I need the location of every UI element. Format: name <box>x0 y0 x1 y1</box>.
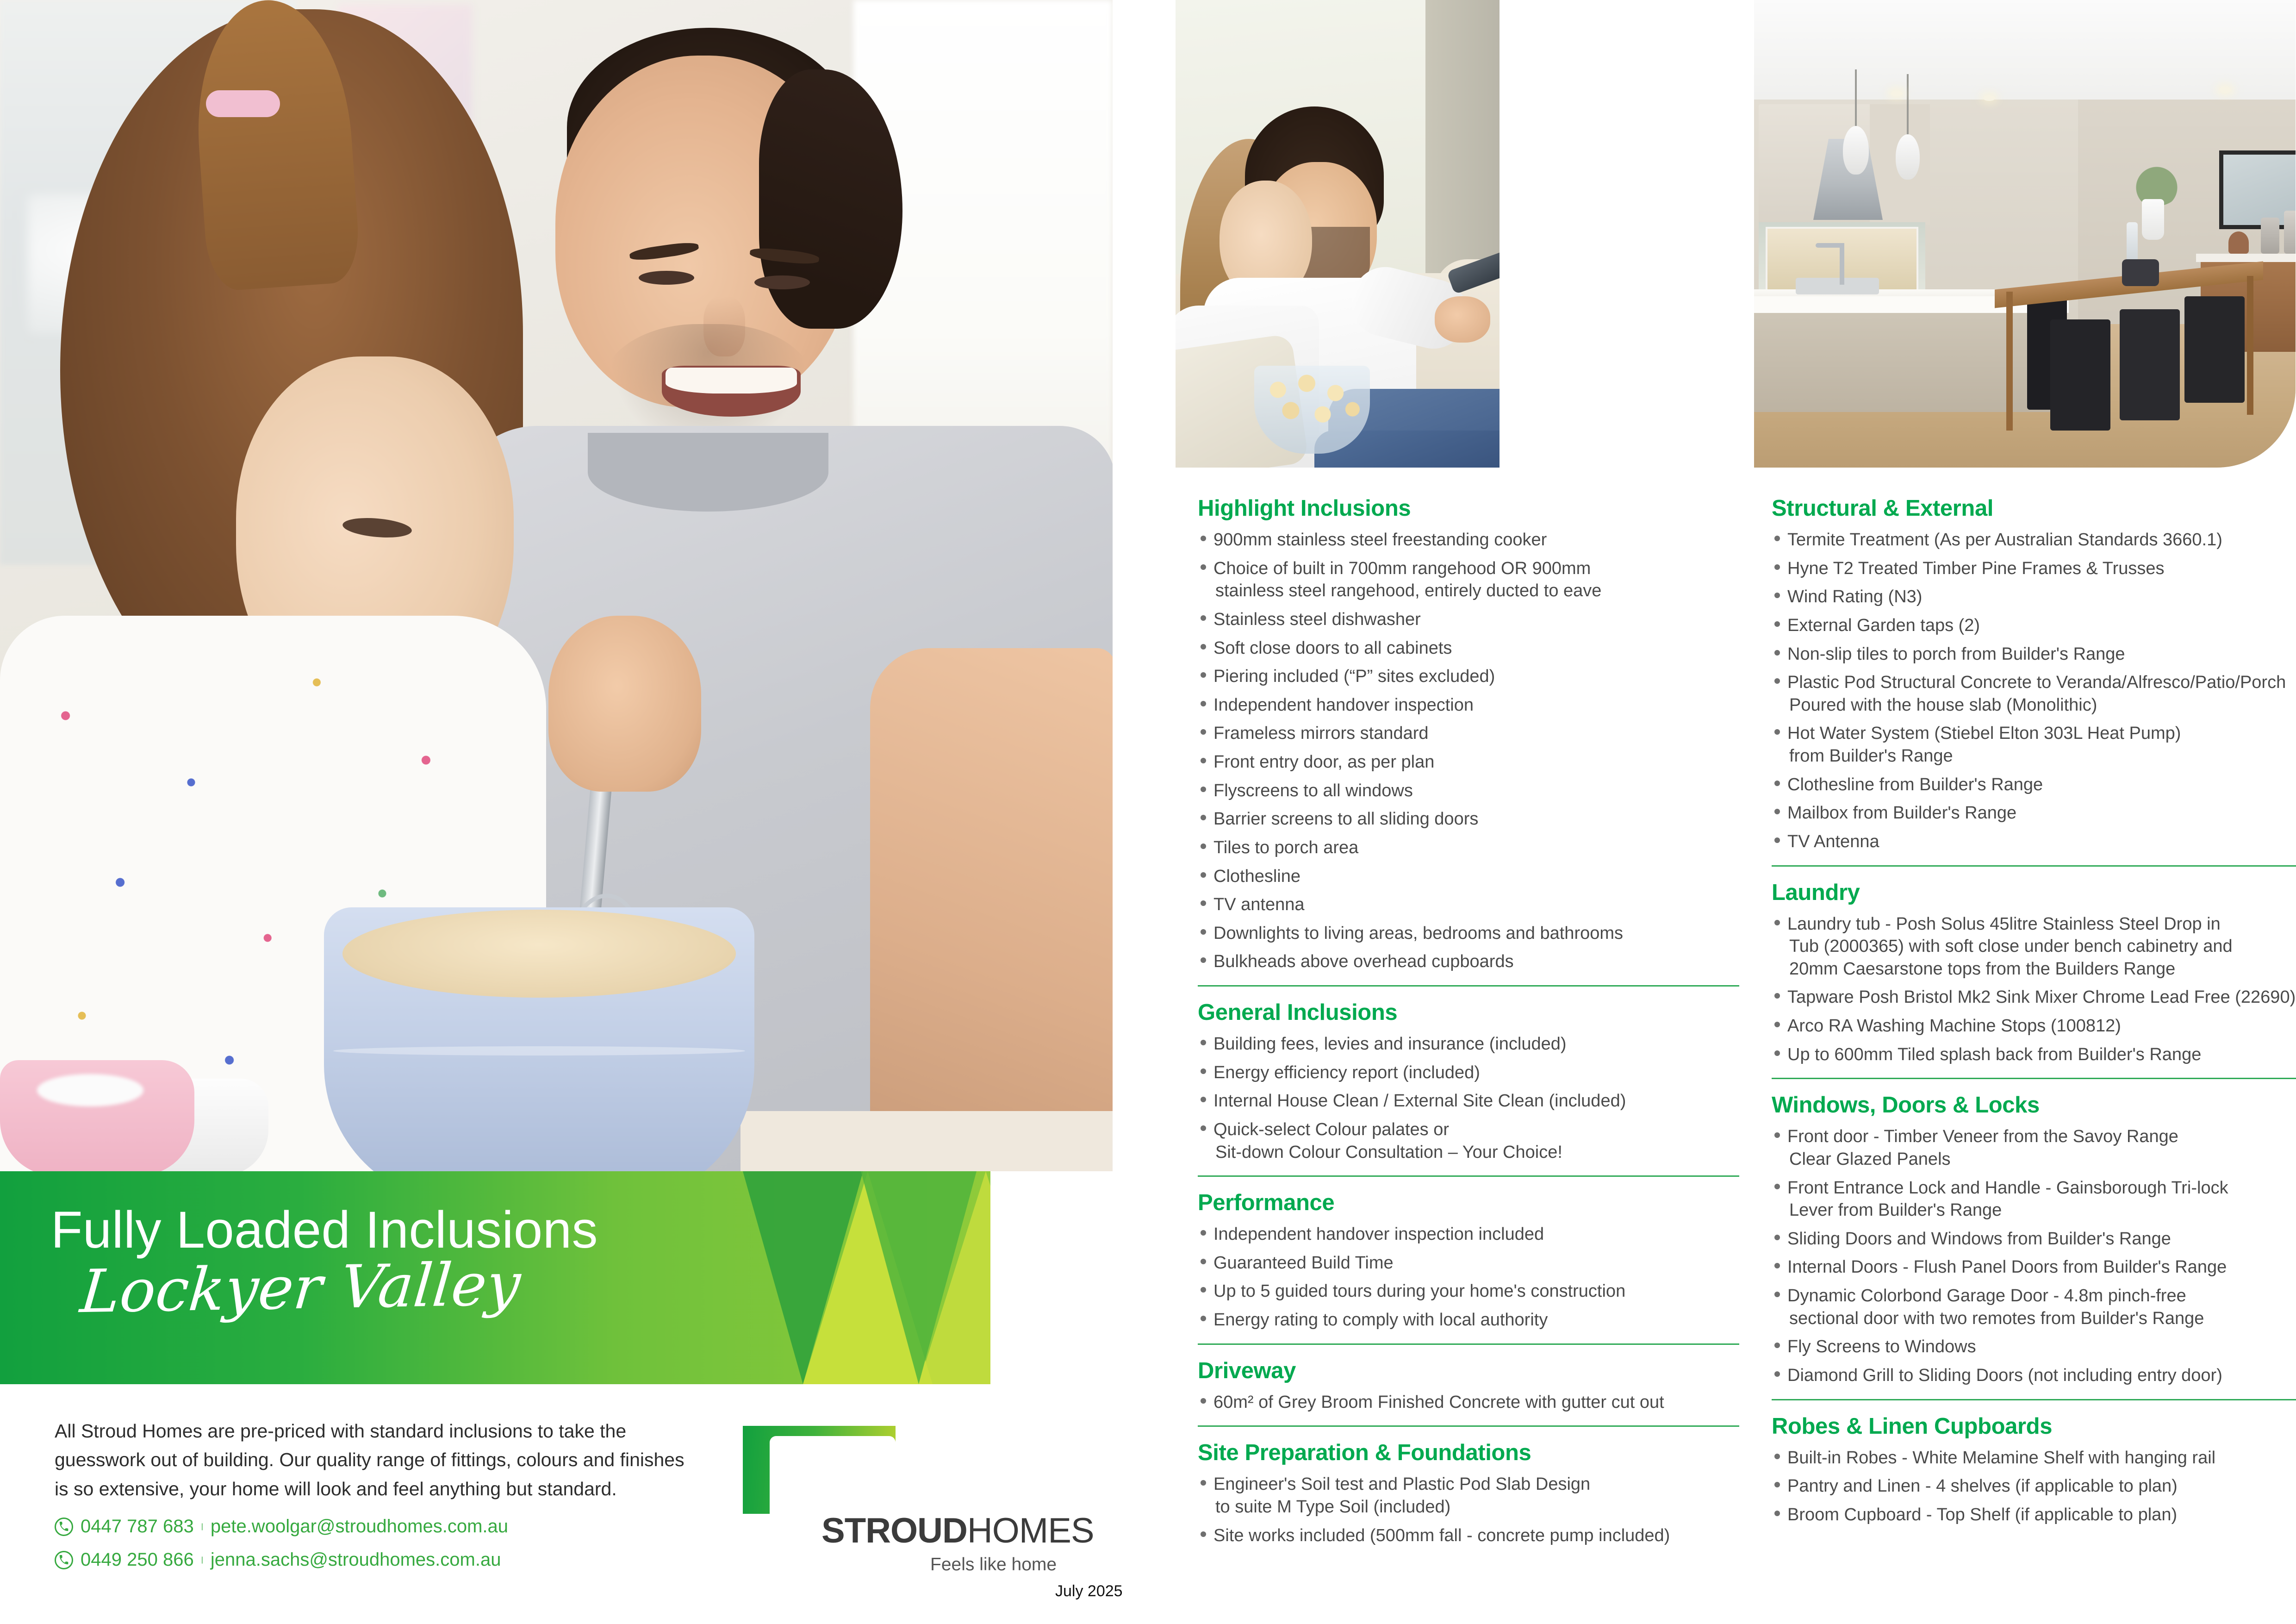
list-item: Barrier screens to all sliding doors <box>1198 808 1739 831</box>
man-mouth <box>662 366 801 417</box>
list-item: Soft close doors to all cabinets <box>1198 637 1739 660</box>
list-item: Flyscreens to all windows <box>1198 780 1739 802</box>
section-heading: Windows, Doors & Locks <box>1772 1092 2296 1118</box>
section-middle_column-4: Site Preparation & FoundationsEngineer's… <box>1198 1440 1739 1547</box>
dining-chair-1 <box>2050 319 2110 431</box>
pendant-light-2 <box>1896 134 1920 180</box>
list-item: TV antenna <box>1198 893 1739 916</box>
logo-tagline: Feels like home <box>930 1555 1057 1575</box>
inclusions-column-right: Structural & ExternalTermite Treatment (… <box>1772 495 2296 1532</box>
list-item: Front door - Timber Veneer from the Savo… <box>1772 1125 2296 1170</box>
list-item: Energy rating to comply with local autho… <box>1198 1309 1739 1331</box>
mixing-bowl-ridge <box>333 1046 745 1056</box>
photo-kitchen-dining <box>1754 0 2296 468</box>
man-teeth <box>666 368 797 394</box>
photo-couple-watching-tv <box>1176 0 1500 468</box>
man-eye-left <box>639 271 694 285</box>
kitchen-sink <box>1796 278 1879 294</box>
intro-paragraph: All Stroud Homes are pre-priced with sta… <box>55 1417 703 1503</box>
logo-word-light: HOMES <box>967 1511 1094 1550</box>
section-heading: Performance <box>1198 1190 1739 1216</box>
dining-table-leg-right <box>2247 276 2253 415</box>
list-item: Pantry and Linen - 4 shelves (if applica… <box>1772 1475 2296 1498</box>
downlight-3 <box>2219 87 2231 93</box>
list-item: TV Antenna <box>1772 831 2296 853</box>
list-item: Plastic Pod Structural Concrete to Veran… <box>1772 671 2296 716</box>
section-divider <box>1772 1399 2296 1400</box>
hero-photo-family-baking <box>0 0 1113 1171</box>
pendant-cord-2 <box>1907 74 1909 139</box>
list-item: Hot Water System (Stiebel Elton 303L Hea… <box>1772 722 2296 767</box>
section-heading: General Inclusions <box>1198 999 1739 1025</box>
list-item-continuation: stainless steel rangehood, entirely duct… <box>1213 580 1739 602</box>
list-item-continuation: from Builder's Range <box>1787 745 2296 768</box>
section-right_column-0: Structural & ExternalTermite Treatment (… <box>1772 495 2296 853</box>
section-bullet-list: 60m² of Grey Broom Finished Concrete wit… <box>1198 1391 1739 1414</box>
section-heading: Driveway <box>1198 1358 1739 1384</box>
section-heading: Robes & Linen Cupboards <box>1772 1413 2296 1439</box>
banner-triangle-4 <box>919 1171 990 1384</box>
mixing-bowl-batter <box>342 910 736 998</box>
list-item: Termite Treatment (As per Australian Sta… <box>1772 529 2296 551</box>
dining-chair-2 <box>2120 309 2180 420</box>
list-item: 60m² of Grey Broom Finished Concrete wit… <box>1198 1391 1739 1414</box>
hands-on-whisk <box>548 616 701 792</box>
logo-wordmark: STROUDHOMES <box>821 1511 1094 1551</box>
list-item: Stainless steel dishwasher <box>1198 608 1739 631</box>
contact-row-1[interactable]: 0447 787 683 | pete.woolgar@stroudhomes.… <box>55 1516 508 1537</box>
list-item: Sliding Doors and Windows from Builder's… <box>1772 1228 2296 1250</box>
list-item: Tapware Posh Bristol Mk2 Sink Mixer Chro… <box>1772 986 2296 1009</box>
list-item: Site works included (500mm fall - concre… <box>1198 1524 1739 1547</box>
list-item: Guaranteed Build Time <box>1198 1252 1739 1274</box>
list-item: Up to 600mm Tiled splash back from Build… <box>1772 1043 2296 1066</box>
list-item-continuation: Lever from Builder's Range <box>1787 1199 2296 1222</box>
girl-hair-band <box>206 90 280 117</box>
contact-list: 0447 787 683 | pete.woolgar@stroudhomes.… <box>55 1516 508 1583</box>
kitchen-island <box>1754 306 2050 412</box>
title-banner: Fully Loaded Inclusions Lockyer Valley <box>0 1171 990 1384</box>
contact-email-1[interactable]: pete.woolgar@stroudhomes.com.au <box>211 1516 508 1537</box>
list-item-continuation: sectional door with two remotes from Bui… <box>1787 1307 2296 1330</box>
section-heading: Highlight Inclusions <box>1198 495 1739 521</box>
logo-word-bold: STROUD <box>821 1511 967 1550</box>
list-item: Internal House Clean / External Site Cle… <box>1198 1090 1739 1112</box>
list-item-continuation: Poured with the house slab (Monolithic) <box>1787 694 2296 717</box>
contact-phone-2[interactable]: 0449 250 866 <box>81 1549 194 1570</box>
list-item: Piering included (“P” sites excluded) <box>1198 665 1739 688</box>
section-bullet-list: Engineer's Soil test and Plastic Pod Sla… <box>1198 1473 1739 1547</box>
list-item: Hyne T2 Treated Timber Pine Frames & Tru… <box>1772 557 2296 580</box>
list-item: Independent handover inspection included <box>1198 1223 1739 1246</box>
kitchen-counter <box>740 1111 1113 1171</box>
section-divider <box>1772 865 2296 867</box>
decor-vase-1 <box>2261 218 2279 254</box>
section-divider <box>1198 1425 1739 1427</box>
list-item: Mailbox from Builder's Range <box>1772 802 2296 824</box>
date-stamp: July 2025 <box>1055 1582 1123 1600</box>
ceiling <box>1754 0 2296 106</box>
stroud-homes-logo: STROUDHOMES Feels like home <box>743 1426 1122 1565</box>
section-middle_column-1: General InclusionsBuilding fees, levies … <box>1198 999 1739 1163</box>
contact-separator-2: | <box>201 1556 203 1564</box>
popcorn <box>1259 370 1365 435</box>
list-item: Wind Rating (N3) <box>1772 586 2296 608</box>
phone-icon <box>55 1551 73 1569</box>
list-item: Diamond Grill to Sliding Doors (not incl… <box>1772 1364 2296 1387</box>
list-item: Front entry door, as per plan <box>1198 751 1739 774</box>
section-divider <box>1198 985 1739 987</box>
table-caddy <box>2122 259 2159 286</box>
list-item: Quick-select Colour palates orSit-down C… <box>1198 1118 1739 1163</box>
section-bullet-list: Independent handover inspection included… <box>1198 1223 1739 1331</box>
list-item-continuation: Sit-down Colour Consultation – Your Choi… <box>1213 1141 1739 1164</box>
list-item: 900mm stainless steel freestanding cooke… <box>1198 529 1739 551</box>
list-item: Downlights to living areas, bedrooms and… <box>1198 922 1739 945</box>
sink-mixer-tap <box>1840 243 1844 285</box>
list-item: Built-in Robes - White Melamine Shelf wi… <box>1772 1447 2296 1469</box>
list-item: Choice of built in 700mm rangehood OR 90… <box>1198 557 1739 602</box>
list-item: Front Entrance Lock and Handle - Gainsbo… <box>1772 1177 2296 1222</box>
list-item: Up to 5 guided tours during your home's … <box>1198 1280 1739 1303</box>
list-item: Bulkheads above overhead cupboards <box>1198 950 1739 973</box>
section-divider <box>1198 1343 1739 1345</box>
downlight-2 <box>1983 95 1995 101</box>
section-divider <box>1772 1078 2296 1079</box>
pendant-light-1 <box>1843 126 1869 175</box>
decor-vase-2 <box>2284 211 2296 254</box>
contact-email-2[interactable]: jenna.sachs@stroudhomes.com.au <box>211 1549 501 1570</box>
list-item: Laundry tub - Posh Solus 45litre Stainle… <box>1772 913 2296 981</box>
section-bullet-list: Built-in Robes - White Melamine Shelf wi… <box>1772 1447 2296 1526</box>
list-item-continuation: Tub (2000365) with soft close under benc… <box>1787 935 2296 958</box>
section-middle_column-2: PerformanceIndependent handover inspecti… <box>1198 1190 1739 1331</box>
section-middle_column-0: Highlight Inclusions900mm stainless stee… <box>1198 495 1739 973</box>
man-collar <box>588 433 828 512</box>
decor-object <box>2228 231 2249 254</box>
list-item: Dynamic Colorbond Garage Door - 4.8m pin… <box>1772 1285 2296 1330</box>
section-heading: Site Preparation & Foundations <box>1198 1440 1739 1466</box>
man-hand <box>1435 296 1490 343</box>
downlight-1 <box>1891 91 1903 96</box>
list-item: External Garden taps (2) <box>1772 614 2296 637</box>
list-item: Energy efficiency report (included) <box>1198 1062 1739 1084</box>
section-heading: Laundry <box>1772 880 2296 906</box>
list-item: Arco RA Washing Machine Stops (100812) <box>1772 1015 2296 1037</box>
logo-mark-cutout <box>770 1436 896 1514</box>
list-item: Tiles to porch area <box>1198 837 1739 859</box>
list-item: Fly Screens to Windows <box>1772 1336 2296 1358</box>
list-item-continuation: Clear Glazed Panels <box>1787 1148 2296 1171</box>
section-bullet-list: 900mm stainless steel freestanding cooke… <box>1198 529 1739 973</box>
contact-phone-1[interactable]: 0447 787 683 <box>81 1516 194 1537</box>
flour-spill <box>37 1074 143 1106</box>
section-divider <box>1198 1175 1739 1177</box>
plant-vase <box>2142 199 2164 240</box>
page-subtitle-region: Lockyer Valley <box>78 1250 523 1327</box>
contact-row-2[interactable]: 0449 250 866 | jenna.sachs@stroudhomes.c… <box>55 1549 508 1570</box>
dining-table-leg-left <box>2006 292 2013 431</box>
list-item-continuation: 20mm Caesarstone tops from the Builders … <box>1787 958 2296 981</box>
list-item-continuation: to suite M Type Soil (included) <box>1213 1496 1739 1518</box>
brochure-page: Fully Loaded Inclusions Lockyer Valley A… <box>0 0 2296 1624</box>
inclusions-column-middle: Highlight Inclusions900mm stainless stee… <box>1198 495 1739 1553</box>
pendant-cord-1 <box>1855 69 1857 130</box>
list-item: Independent handover inspection <box>1198 694 1739 717</box>
contact-separator-1: | <box>201 1523 203 1531</box>
man-eye-right <box>754 275 810 289</box>
phone-icon <box>55 1518 73 1536</box>
section-right_column-1: LaundryLaundry tub - Posh Solus 45litre … <box>1772 880 2296 1066</box>
list-item: Clothesline from Builder's Range <box>1772 774 2296 796</box>
section-right_column-3: Robes & Linen CupboardsBuilt-in Robes - … <box>1772 1413 2296 1526</box>
section-bullet-list: Front door - Timber Veneer from the Savo… <box>1772 1125 2296 1387</box>
list-item: Internal Doors - Flush Panel Doors from … <box>1772 1256 2296 1279</box>
list-item: Clothesline <box>1198 865 1739 888</box>
logo-mark <box>743 1426 896 1514</box>
list-item: Non-slip tiles to porch from Builder's R… <box>1772 643 2296 666</box>
section-middle_column-3: Driveway60m² of Grey Broom Finished Conc… <box>1198 1358 1739 1414</box>
sideboard-top <box>2196 254 2296 262</box>
section-bullet-list: Laundry tub - Posh Solus 45litre Stainle… <box>1772 913 2296 1066</box>
section-heading: Structural & External <box>1772 495 2296 521</box>
dining-chair-3 <box>2184 296 2245 403</box>
man-arm <box>870 648 1113 1171</box>
section-bullet-list: Termite Treatment (As per Australian Sta… <box>1772 529 2296 853</box>
section-bullet-list: Building fees, levies and insurance (inc… <box>1198 1033 1739 1163</box>
section-right_column-2: Windows, Doors & LocksFront door - Timbe… <box>1772 1092 2296 1387</box>
list-item: Broom Cupboard - Top Shelf (if applicabl… <box>1772 1504 2296 1526</box>
list-item: Engineer's Soil test and Plastic Pod Sla… <box>1198 1473 1739 1518</box>
list-item: Building fees, levies and insurance (inc… <box>1198 1033 1739 1056</box>
list-item: Frameless mirrors standard <box>1198 722 1739 745</box>
man-nose <box>703 296 745 356</box>
